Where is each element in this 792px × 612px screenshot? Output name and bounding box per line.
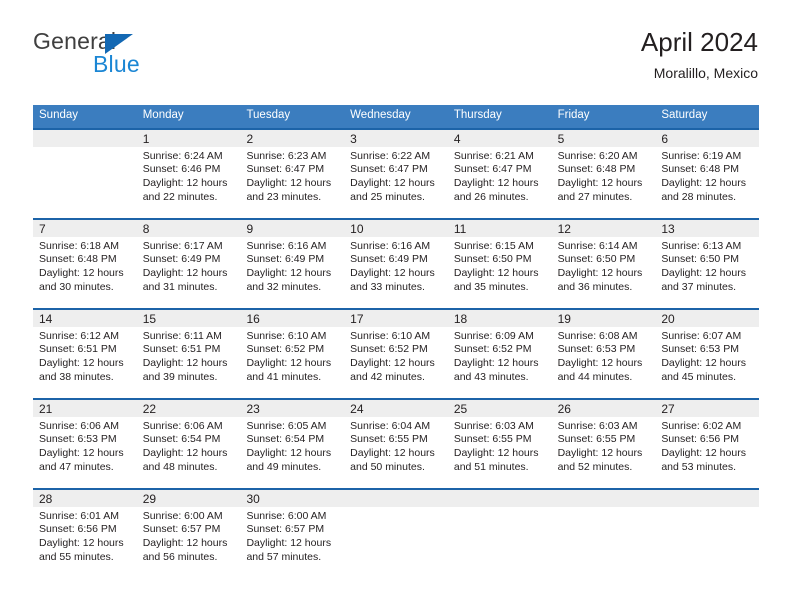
weekday-header-sunday: Sunday	[33, 105, 137, 128]
day-cell[interactable]	[344, 490, 448, 578]
day-number-band: 4	[448, 130, 552, 147]
sunset-text: Sunset: 6:46 PM	[143, 163, 237, 177]
sunrise-text: Sunrise: 6:02 AM	[661, 420, 755, 434]
sunset-text: Sunset: 6:51 PM	[39, 343, 133, 357]
day-number: 1	[143, 132, 150, 146]
day-number-band: 1	[137, 130, 241, 147]
day-number: 2	[246, 132, 253, 146]
daylight-text-line1: Daylight: 12 hours	[350, 177, 444, 191]
day-number: 24	[350, 402, 363, 416]
day-cell[interactable]: 12 Sunrise: 6:14 AM Sunset: 6:50 PM Dayl…	[552, 220, 656, 308]
day-number: 19	[558, 312, 571, 326]
sunset-text: Sunset: 6:54 PM	[246, 433, 340, 447]
sunset-text: Sunset: 6:56 PM	[661, 433, 755, 447]
day-cell[interactable]: 28 Sunrise: 6:01 AM Sunset: 6:56 PM Dayl…	[33, 490, 137, 578]
daylight-text-line1: Daylight: 12 hours	[39, 537, 133, 551]
day-number-band: 22	[137, 400, 241, 417]
daylight-text-line2: and 41 minutes.	[246, 371, 340, 385]
day-number-band: 9	[240, 220, 344, 237]
day-number: 6	[661, 132, 668, 146]
day-number: 7	[39, 222, 46, 236]
day-details: Sunrise: 6:17 AM Sunset: 6:49 PM Dayligh…	[137, 237, 241, 294]
day-details: Sunrise: 6:24 AM Sunset: 6:46 PM Dayligh…	[137, 147, 241, 204]
day-number-band: 6	[655, 130, 759, 147]
daylight-text-line1: Daylight: 12 hours	[454, 267, 548, 281]
daylight-text-line2: and 47 minutes.	[39, 461, 133, 475]
day-number-band: 28	[33, 490, 137, 507]
sunrise-text: Sunrise: 6:04 AM	[350, 420, 444, 434]
daylight-text-line2: and 45 minutes.	[661, 371, 755, 385]
day-number: 29	[143, 492, 156, 506]
day-number-band	[552, 490, 656, 507]
generalblue-logo[interactable]: General Blue	[33, 28, 273, 88]
sunset-text: Sunset: 6:55 PM	[558, 433, 652, 447]
sunrise-text: Sunrise: 6:21 AM	[454, 150, 548, 164]
day-number: 3	[350, 132, 357, 146]
day-details: Sunrise: 6:06 AM Sunset: 6:53 PM Dayligh…	[33, 417, 137, 474]
page-title: April 2024	[641, 28, 758, 58]
day-details: Sunrise: 6:23 AM Sunset: 6:47 PM Dayligh…	[240, 147, 344, 204]
daylight-text-line1: Daylight: 12 hours	[39, 267, 133, 281]
daylight-text-line1: Daylight: 12 hours	[454, 447, 548, 461]
day-number-band: 7	[33, 220, 137, 237]
calendar-week: 14 Sunrise: 6:12 AM Sunset: 6:51 PM Dayl…	[33, 308, 759, 398]
day-number: 16	[246, 312, 259, 326]
day-details: Sunrise: 6:07 AM Sunset: 6:53 PM Dayligh…	[655, 327, 759, 384]
daylight-text-line2: and 38 minutes.	[39, 371, 133, 385]
day-number-band: 16	[240, 310, 344, 327]
day-number: 30	[246, 492, 259, 506]
sunset-text: Sunset: 6:48 PM	[39, 253, 133, 267]
day-cell[interactable]: 1 Sunrise: 6:24 AM Sunset: 6:46 PM Dayli…	[137, 130, 241, 218]
day-number-band: 3	[344, 130, 448, 147]
day-cell[interactable]: 24 Sunrise: 6:04 AM Sunset: 6:55 PM Dayl…	[344, 400, 448, 488]
daylight-text-line1: Daylight: 12 hours	[143, 447, 237, 461]
daylight-text-line2: and 56 minutes.	[143, 551, 237, 565]
daylight-text-line1: Daylight: 12 hours	[246, 177, 340, 191]
day-number-band: 21	[33, 400, 137, 417]
day-number: 18	[454, 312, 467, 326]
weekday-header-row: Sunday Monday Tuesday Wednesday Thursday…	[33, 105, 759, 128]
day-number: 5	[558, 132, 565, 146]
daylight-text-line1: Daylight: 12 hours	[454, 177, 548, 191]
day-cell[interactable]: 18 Sunrise: 6:09 AM Sunset: 6:52 PM Dayl…	[448, 310, 552, 398]
day-number-band: 2	[240, 130, 344, 147]
day-details: Sunrise: 6:22 AM Sunset: 6:47 PM Dayligh…	[344, 147, 448, 204]
day-details: Sunrise: 6:04 AM Sunset: 6:55 PM Dayligh…	[344, 417, 448, 474]
day-number-band	[448, 490, 552, 507]
sunrise-text: Sunrise: 6:03 AM	[454, 420, 548, 434]
day-number: 21	[39, 402, 52, 416]
sunset-text: Sunset: 6:47 PM	[350, 163, 444, 177]
day-number: 20	[661, 312, 674, 326]
sunset-text: Sunset: 6:50 PM	[661, 253, 755, 267]
sunset-text: Sunset: 6:50 PM	[454, 253, 548, 267]
sunrise-text: Sunrise: 6:00 AM	[143, 510, 237, 524]
day-cell[interactable]: 11 Sunrise: 6:15 AM Sunset: 6:50 PM Dayl…	[448, 220, 552, 308]
day-cell[interactable]: 23 Sunrise: 6:05 AM Sunset: 6:54 PM Dayl…	[240, 400, 344, 488]
weekday-header-friday: Friday	[552, 105, 656, 128]
daylight-text-line2: and 25 minutes.	[350, 191, 444, 205]
daylight-text-line1: Daylight: 12 hours	[143, 267, 237, 281]
day-number: 14	[39, 312, 52, 326]
day-cell[interactable]: 30 Sunrise: 6:00 AM Sunset: 6:57 PM Dayl…	[240, 490, 344, 578]
calendar-grid: Sunday Monday Tuesday Wednesday Thursday…	[33, 105, 759, 578]
sunset-text: Sunset: 6:57 PM	[143, 523, 237, 537]
day-details	[344, 507, 448, 510]
day-number-band: 30	[240, 490, 344, 507]
daylight-text-line2: and 44 minutes.	[558, 371, 652, 385]
day-number: 17	[350, 312, 363, 326]
daylight-text-line1: Daylight: 12 hours	[558, 357, 652, 371]
day-number-band: 26	[552, 400, 656, 417]
daylight-text-line2: and 32 minutes.	[246, 281, 340, 295]
sunrise-text: Sunrise: 6:14 AM	[558, 240, 652, 254]
day-details: Sunrise: 6:03 AM Sunset: 6:55 PM Dayligh…	[448, 417, 552, 474]
sunrise-text: Sunrise: 6:13 AM	[661, 240, 755, 254]
calendar-week: 7 Sunrise: 6:18 AM Sunset: 6:48 PM Dayli…	[33, 218, 759, 308]
daylight-text-line1: Daylight: 12 hours	[246, 537, 340, 551]
sunrise-text: Sunrise: 6:17 AM	[143, 240, 237, 254]
sunrise-text: Sunrise: 6:11 AM	[143, 330, 237, 344]
day-number-band: 23	[240, 400, 344, 417]
sunset-text: Sunset: 6:49 PM	[246, 253, 340, 267]
day-number: 15	[143, 312, 156, 326]
daylight-text-line2: and 37 minutes.	[661, 281, 755, 295]
day-number-band	[33, 130, 137, 147]
day-details: Sunrise: 6:10 AM Sunset: 6:52 PM Dayligh…	[240, 327, 344, 384]
sunrise-text: Sunrise: 6:07 AM	[661, 330, 755, 344]
sunrise-text: Sunrise: 6:22 AM	[350, 150, 444, 164]
sunrise-text: Sunrise: 6:00 AM	[246, 510, 340, 524]
sunrise-text: Sunrise: 6:10 AM	[246, 330, 340, 344]
weekday-header-monday: Monday	[137, 105, 241, 128]
day-details: Sunrise: 6:12 AM Sunset: 6:51 PM Dayligh…	[33, 327, 137, 384]
day-details: Sunrise: 6:19 AM Sunset: 6:48 PM Dayligh…	[655, 147, 759, 204]
day-cell[interactable]	[655, 490, 759, 578]
daylight-text-line1: Daylight: 12 hours	[143, 177, 237, 191]
day-cell[interactable]: 15 Sunrise: 6:11 AM Sunset: 6:51 PM Dayl…	[137, 310, 241, 398]
sunrise-text: Sunrise: 6:09 AM	[454, 330, 548, 344]
day-cell[interactable]: 21 Sunrise: 6:06 AM Sunset: 6:53 PM Dayl…	[33, 400, 137, 488]
day-details	[33, 147, 137, 150]
sunrise-text: Sunrise: 6:20 AM	[558, 150, 652, 164]
page-header: General Blue April 2024 Moralillo, Mexic…	[33, 28, 758, 94]
day-cell[interactable]: 13 Sunrise: 6:13 AM Sunset: 6:50 PM Dayl…	[655, 220, 759, 308]
daylight-text-line1: Daylight: 12 hours	[454, 357, 548, 371]
sunrise-text: Sunrise: 6:15 AM	[454, 240, 548, 254]
day-number-band: 29	[137, 490, 241, 507]
day-number: 4	[454, 132, 461, 146]
day-details: Sunrise: 6:02 AM Sunset: 6:56 PM Dayligh…	[655, 417, 759, 474]
daylight-text-line1: Daylight: 12 hours	[558, 447, 652, 461]
sunrise-text: Sunrise: 6:03 AM	[558, 420, 652, 434]
day-details: Sunrise: 6:16 AM Sunset: 6:49 PM Dayligh…	[240, 237, 344, 294]
daylight-text-line1: Daylight: 12 hours	[661, 177, 755, 191]
sunrise-text: Sunrise: 6:16 AM	[350, 240, 444, 254]
day-details	[655, 507, 759, 510]
daylight-text-line1: Daylight: 12 hours	[350, 447, 444, 461]
sunset-text: Sunset: 6:49 PM	[350, 253, 444, 267]
sunset-text: Sunset: 6:55 PM	[350, 433, 444, 447]
day-number-band: 14	[33, 310, 137, 327]
day-cell[interactable]	[448, 490, 552, 578]
day-number: 25	[454, 402, 467, 416]
day-cell[interactable]: 8 Sunrise: 6:17 AM Sunset: 6:49 PM Dayli…	[137, 220, 241, 308]
daylight-text-line2: and 50 minutes.	[350, 461, 444, 475]
sunrise-text: Sunrise: 6:10 AM	[350, 330, 444, 344]
sunset-text: Sunset: 6:53 PM	[661, 343, 755, 357]
day-number: 9	[246, 222, 253, 236]
day-details	[448, 507, 552, 510]
day-cell[interactable]: 20 Sunrise: 6:07 AM Sunset: 6:53 PM Dayl…	[655, 310, 759, 398]
weekday-header-wednesday: Wednesday	[344, 105, 448, 128]
day-cell[interactable]: 25 Sunrise: 6:03 AM Sunset: 6:55 PM Dayl…	[448, 400, 552, 488]
day-number: 8	[143, 222, 150, 236]
day-number-band: 18	[448, 310, 552, 327]
day-details: Sunrise: 6:00 AM Sunset: 6:57 PM Dayligh…	[240, 507, 344, 564]
day-details: Sunrise: 6:16 AM Sunset: 6:49 PM Dayligh…	[344, 237, 448, 294]
day-details	[552, 507, 656, 510]
calendar-week: 1 Sunrise: 6:24 AM Sunset: 6:46 PM Dayli…	[33, 128, 759, 218]
daylight-text-line2: and 36 minutes.	[558, 281, 652, 295]
day-cell[interactable]: 4 Sunrise: 6:21 AM Sunset: 6:47 PM Dayli…	[448, 130, 552, 218]
day-number-band: 25	[448, 400, 552, 417]
day-number-band	[655, 490, 759, 507]
sunrise-text: Sunrise: 6:06 AM	[39, 420, 133, 434]
day-number: 12	[558, 222, 571, 236]
day-number-band: 19	[552, 310, 656, 327]
sunset-text: Sunset: 6:49 PM	[143, 253, 237, 267]
day-number-band: 13	[655, 220, 759, 237]
day-cell[interactable]: 7 Sunrise: 6:18 AM Sunset: 6:48 PM Dayli…	[33, 220, 137, 308]
daylight-text-line2: and 49 minutes.	[246, 461, 340, 475]
day-details: Sunrise: 6:13 AM Sunset: 6:50 PM Dayligh…	[655, 237, 759, 294]
daylight-text-line1: Daylight: 12 hours	[246, 447, 340, 461]
day-number: 28	[39, 492, 52, 506]
day-number-band: 10	[344, 220, 448, 237]
day-cell[interactable]: 22 Sunrise: 6:06 AM Sunset: 6:54 PM Dayl…	[137, 400, 241, 488]
day-details: Sunrise: 6:03 AM Sunset: 6:55 PM Dayligh…	[552, 417, 656, 474]
daylight-text-line1: Daylight: 12 hours	[246, 267, 340, 281]
sunset-text: Sunset: 6:51 PM	[143, 343, 237, 357]
logo-text-blue: Blue	[93, 53, 140, 76]
daylight-text-line2: and 26 minutes.	[454, 191, 548, 205]
day-cell[interactable]	[552, 490, 656, 578]
daylight-text-line1: Daylight: 12 hours	[661, 447, 755, 461]
day-cell[interactable]: 14 Sunrise: 6:12 AM Sunset: 6:51 PM Dayl…	[33, 310, 137, 398]
day-details: Sunrise: 6:11 AM Sunset: 6:51 PM Dayligh…	[137, 327, 241, 384]
sunrise-text: Sunrise: 6:01 AM	[39, 510, 133, 524]
daylight-text-line1: Daylight: 12 hours	[350, 357, 444, 371]
daylight-text-line1: Daylight: 12 hours	[143, 537, 237, 551]
day-cell[interactable]: 26 Sunrise: 6:03 AM Sunset: 6:55 PM Dayl…	[552, 400, 656, 488]
day-details: Sunrise: 6:06 AM Sunset: 6:54 PM Dayligh…	[137, 417, 241, 474]
day-number: 26	[558, 402, 571, 416]
sunrise-text: Sunrise: 6:24 AM	[143, 150, 237, 164]
day-number-band: 20	[655, 310, 759, 327]
daylight-text-line2: and 51 minutes.	[454, 461, 548, 475]
daylight-text-line2: and 57 minutes.	[246, 551, 340, 565]
day-number-band: 17	[344, 310, 448, 327]
sunset-text: Sunset: 6:48 PM	[558, 163, 652, 177]
sunset-text: Sunset: 6:57 PM	[246, 523, 340, 537]
daylight-text-line1: Daylight: 12 hours	[246, 357, 340, 371]
sunset-text: Sunset: 6:47 PM	[246, 163, 340, 177]
daylight-text-line2: and 30 minutes.	[39, 281, 133, 295]
day-cell[interactable]: 10 Sunrise: 6:16 AM Sunset: 6:49 PM Dayl…	[344, 220, 448, 308]
day-cell[interactable]: 27 Sunrise: 6:02 AM Sunset: 6:56 PM Dayl…	[655, 400, 759, 488]
day-number-band: 15	[137, 310, 241, 327]
day-details: Sunrise: 6:05 AM Sunset: 6:54 PM Dayligh…	[240, 417, 344, 474]
day-cell[interactable]: 5 Sunrise: 6:20 AM Sunset: 6:48 PM Dayli…	[552, 130, 656, 218]
day-number-band: 8	[137, 220, 241, 237]
day-cell[interactable]	[33, 130, 137, 218]
daylight-text-line2: and 39 minutes.	[143, 371, 237, 385]
calendar-page: General Blue April 2024 Moralillo, Mexic…	[0, 0, 792, 612]
day-details: Sunrise: 6:01 AM Sunset: 6:56 PM Dayligh…	[33, 507, 137, 564]
day-cell[interactable]: 6 Sunrise: 6:19 AM Sunset: 6:48 PM Dayli…	[655, 130, 759, 218]
daylight-text-line2: and 31 minutes.	[143, 281, 237, 295]
daylight-text-line2: and 42 minutes.	[350, 371, 444, 385]
day-details: Sunrise: 6:18 AM Sunset: 6:48 PM Dayligh…	[33, 237, 137, 294]
day-number-band: 5	[552, 130, 656, 147]
daylight-text-line2: and 28 minutes.	[661, 191, 755, 205]
sunset-text: Sunset: 6:52 PM	[350, 343, 444, 357]
sunrise-text: Sunrise: 6:16 AM	[246, 240, 340, 254]
day-number: 23	[246, 402, 259, 416]
day-number-band: 27	[655, 400, 759, 417]
sunrise-text: Sunrise: 6:06 AM	[143, 420, 237, 434]
daylight-text-line2: and 53 minutes.	[661, 461, 755, 475]
daylight-text-line2: and 27 minutes.	[558, 191, 652, 205]
daylight-text-line1: Daylight: 12 hours	[143, 357, 237, 371]
weekday-header-tuesday: Tuesday	[240, 105, 344, 128]
sunset-text: Sunset: 6:50 PM	[558, 253, 652, 267]
sunrise-text: Sunrise: 6:19 AM	[661, 150, 755, 164]
calendar-week: 28 Sunrise: 6:01 AM Sunset: 6:56 PM Dayl…	[33, 488, 759, 578]
page-subtitle: Moralillo, Mexico	[641, 65, 758, 81]
sunrise-text: Sunrise: 6:05 AM	[246, 420, 340, 434]
day-number-band: 11	[448, 220, 552, 237]
title-block: April 2024 Moralillo, Mexico	[641, 28, 758, 81]
day-cell[interactable]: 17 Sunrise: 6:10 AM Sunset: 6:52 PM Dayl…	[344, 310, 448, 398]
sunset-text: Sunset: 6:48 PM	[661, 163, 755, 177]
sunset-text: Sunset: 6:52 PM	[246, 343, 340, 357]
day-details: Sunrise: 6:14 AM Sunset: 6:50 PM Dayligh…	[552, 237, 656, 294]
day-number: 22	[143, 402, 156, 416]
day-details: Sunrise: 6:00 AM Sunset: 6:57 PM Dayligh…	[137, 507, 241, 564]
sunrise-text: Sunrise: 6:23 AM	[246, 150, 340, 164]
sunset-text: Sunset: 6:52 PM	[454, 343, 548, 357]
day-details: Sunrise: 6:20 AM Sunset: 6:48 PM Dayligh…	[552, 147, 656, 204]
day-details: Sunrise: 6:21 AM Sunset: 6:47 PM Dayligh…	[448, 147, 552, 204]
day-cell[interactable]: 3 Sunrise: 6:22 AM Sunset: 6:47 PM Dayli…	[344, 130, 448, 218]
daylight-text-line2: and 43 minutes.	[454, 371, 548, 385]
day-number: 11	[454, 222, 466, 236]
daylight-text-line2: and 55 minutes.	[39, 551, 133, 565]
daylight-text-line2: and 33 minutes.	[350, 281, 444, 295]
day-details: Sunrise: 6:10 AM Sunset: 6:52 PM Dayligh…	[344, 327, 448, 384]
daylight-text-line1: Daylight: 12 hours	[39, 447, 133, 461]
day-number: 27	[661, 402, 674, 416]
daylight-text-line1: Daylight: 12 hours	[558, 267, 652, 281]
day-number: 13	[661, 222, 674, 236]
sunset-text: Sunset: 6:55 PM	[454, 433, 548, 447]
day-number-band	[344, 490, 448, 507]
weekday-header-thursday: Thursday	[448, 105, 552, 128]
calendar-week: 21 Sunrise: 6:06 AM Sunset: 6:53 PM Dayl…	[33, 398, 759, 488]
daylight-text-line2: and 22 minutes.	[143, 191, 237, 205]
daylight-text-line1: Daylight: 12 hours	[39, 357, 133, 371]
day-number: 10	[350, 222, 363, 236]
day-cell[interactable]: 2 Sunrise: 6:23 AM Sunset: 6:47 PM Dayli…	[240, 130, 344, 218]
sunrise-text: Sunrise: 6:08 AM	[558, 330, 652, 344]
daylight-text-line1: Daylight: 12 hours	[558, 177, 652, 191]
day-number-band: 24	[344, 400, 448, 417]
daylight-text-line1: Daylight: 12 hours	[350, 267, 444, 281]
sunset-text: Sunset: 6:56 PM	[39, 523, 133, 537]
sunrise-text: Sunrise: 6:12 AM	[39, 330, 133, 344]
daylight-text-line2: and 23 minutes.	[246, 191, 340, 205]
day-cell[interactable]: 9 Sunrise: 6:16 AM Sunset: 6:49 PM Dayli…	[240, 220, 344, 308]
day-cell[interactable]: 16 Sunrise: 6:10 AM Sunset: 6:52 PM Dayl…	[240, 310, 344, 398]
day-cell[interactable]: 19 Sunrise: 6:08 AM Sunset: 6:53 PM Dayl…	[552, 310, 656, 398]
daylight-text-line1: Daylight: 12 hours	[661, 357, 755, 371]
daylight-text-line2: and 48 minutes.	[143, 461, 237, 475]
day-number-band: 12	[552, 220, 656, 237]
daylight-text-line2: and 35 minutes.	[454, 281, 548, 295]
sunset-text: Sunset: 6:53 PM	[39, 433, 133, 447]
day-cell[interactable]: 29 Sunrise: 6:00 AM Sunset: 6:57 PM Dayl…	[137, 490, 241, 578]
day-details: Sunrise: 6:08 AM Sunset: 6:53 PM Dayligh…	[552, 327, 656, 384]
daylight-text-line2: and 52 minutes.	[558, 461, 652, 475]
sunrise-text: Sunrise: 6:18 AM	[39, 240, 133, 254]
day-details: Sunrise: 6:15 AM Sunset: 6:50 PM Dayligh…	[448, 237, 552, 294]
sunset-text: Sunset: 6:47 PM	[454, 163, 548, 177]
logo-text-general: General	[33, 30, 116, 53]
sunset-text: Sunset: 6:53 PM	[558, 343, 652, 357]
weekday-header-saturday: Saturday	[655, 105, 759, 128]
sunset-text: Sunset: 6:54 PM	[143, 433, 237, 447]
daylight-text-line1: Daylight: 12 hours	[661, 267, 755, 281]
day-details: Sunrise: 6:09 AM Sunset: 6:52 PM Dayligh…	[448, 327, 552, 384]
